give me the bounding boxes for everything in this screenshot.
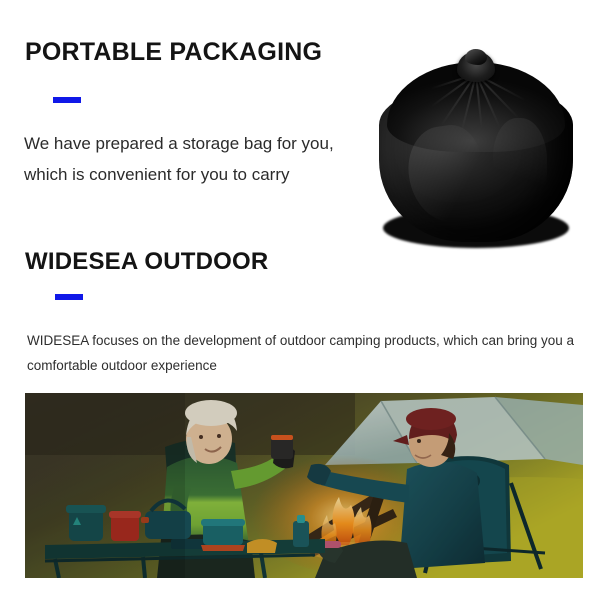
- camping-lifestyle-photo: [25, 393, 583, 578]
- section-heading-widesea-outdoor: WIDESEA OUTDOOR: [25, 248, 268, 276]
- product-description-page: PORTABLE PACKAGING We have prepared a st…: [0, 0, 600, 600]
- storage-bag-illustration: [365, 22, 587, 267]
- section-body-widesea-outdoor: WIDESEA focuses on the development of ou…: [27, 328, 575, 378]
- storage-bag-image: [365, 22, 587, 267]
- camping-scene-illustration: [25, 393, 583, 578]
- section-body-portable-packaging: We have prepared a storage bag for you, …: [24, 128, 336, 190]
- section-heading-portable-packaging: PORTABLE PACKAGING: [25, 38, 322, 67]
- accent-bar-divider-1: [53, 97, 81, 103]
- bag-drawstring-knot: [465, 49, 487, 65]
- accent-bar-divider-2: [55, 294, 83, 300]
